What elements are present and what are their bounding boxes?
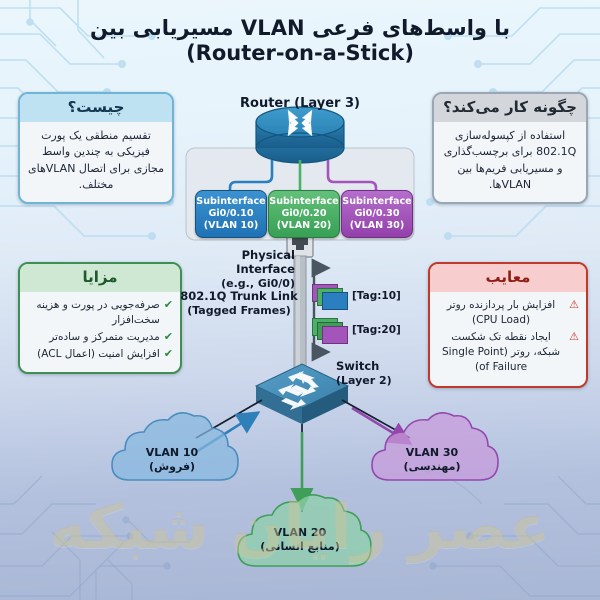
- list-item: ✔ مدیریت متمرکز و ساده‌تر: [27, 330, 173, 345]
- info-box-cons: معایب ⚠ افزایش بار پردازنده روتر (CPU Lo…: [428, 262, 588, 388]
- physical-interface-label: Physical Interface (e.g., Gi0/0): [185, 249, 295, 290]
- page-title: مسیریابی بین VLAN با واسط‌های فرعی (Rout…: [0, 16, 600, 66]
- trunk-link-title: 802.1Q Trunk Link: [180, 289, 298, 303]
- subinterface-vlan: (VLAN 10): [196, 220, 266, 232]
- subinterface-vlan: (VLAN 20): [269, 220, 339, 232]
- info-box-what-body: تقسیم منطقی یک پورت فیزیکی به چندین واسط…: [20, 122, 172, 202]
- subinterface-name: Gi0/0.10: [196, 208, 266, 220]
- switch-label: Switch (Layer 2): [336, 360, 426, 387]
- cons-list: ⚠ افزایش بار پردازنده روتر (CPU Load) ⚠ …: [430, 292, 586, 386]
- infographic-canvas: مسیریابی بین VLAN با واسط‌های فرعی (Rout…: [0, 0, 600, 600]
- switch-sub: (Layer 2): [336, 374, 426, 387]
- cloud-dept: (فروش): [112, 460, 232, 474]
- pros-list: ✔ صرفه‌جویی در پورت و هزینه سخت‌افزار ✔ …: [20, 292, 180, 373]
- router-label: Router (Layer 3): [0, 96, 600, 112]
- title-line-1: مسیریابی بین VLAN با واسط‌های فرعی: [0, 16, 600, 41]
- cloud-label-vlan-10: VLAN 10 (فروش): [112, 418, 232, 496]
- check-icon: ✔: [164, 298, 173, 313]
- info-box-how-body: استفاده از کپسوله‌سازی 802.1Q برای برچسب…: [434, 122, 586, 202]
- physical-interface-sub: (e.g., Gi0/0): [185, 277, 295, 290]
- info-box-pros: مزایا ✔ صرفه‌جویی در پورت و هزینه سخت‌اف…: [18, 262, 182, 374]
- check-icon: ✔: [164, 347, 173, 362]
- frame-stack-icon: [312, 284, 348, 308]
- subinterface-vlan: (VLAN 30): [342, 220, 412, 232]
- subinterface-title: Subinterface: [269, 196, 339, 208]
- cloud-label-vlan-30: VLAN 30 (مهندسی): [372, 418, 492, 496]
- list-item: ✔ افزایش امنیت (اعمال ACL): [27, 347, 173, 362]
- switch-title: Switch: [336, 359, 379, 373]
- list-item-label: ایجاد نقطه تک شکست شبکه، روتر (Single Po…: [437, 330, 565, 376]
- trunk-link-label: 802.1Q Trunk Link (Tagged Frames): [180, 290, 298, 317]
- list-item: ⚠ ایجاد نقطه تک شکست شبکه، روتر (Single …: [437, 330, 579, 376]
- subinterface-name: Gi0/0.20: [269, 208, 339, 220]
- warning-icon: ⚠: [569, 298, 579, 313]
- cloud-name: VLAN 30: [372, 446, 492, 460]
- list-item: ✔ صرفه‌جویی در پورت و هزینه سخت‌افزار: [27, 298, 173, 328]
- warning-icon: ⚠: [569, 330, 579, 345]
- tagged-frame-group-20: [Tag:20]: [312, 318, 401, 342]
- cloud-label-vlan-20: VLAN 20 (منابع انسانی): [236, 498, 364, 580]
- check-icon: ✔: [164, 330, 173, 345]
- subinterface-vlan-10[interactable]: Subinterface Gi0/0.10 (VLAN 10): [195, 190, 267, 238]
- subinterface-vlan-30[interactable]: Subinterface Gi0/0.30 (VLAN 30): [341, 190, 413, 238]
- trunk-link-sub: (Tagged Frames): [180, 304, 298, 317]
- tag-label-20: [Tag:20]: [352, 324, 401, 336]
- list-item-label: مدیریت متمرکز و ساده‌تر: [27, 330, 160, 345]
- subinterface-vlan-20[interactable]: Subinterface Gi0/0.20 (VLAN 20): [268, 190, 340, 238]
- subinterface-title: Subinterface: [196, 196, 266, 208]
- title-line-2: (Router-on-a-Stick): [0, 41, 600, 66]
- tagged-frame-group-10: [Tag:10]: [312, 284, 401, 308]
- list-item: ⚠ افزایش بار پردازنده روتر (CPU Load): [437, 298, 579, 328]
- cloud-dept: (منابع انسانی): [236, 540, 364, 554]
- list-item-label: صرفه‌جویی در پورت و هزینه سخت‌افزار: [27, 298, 160, 328]
- subinterface-name: Gi0/0.30: [342, 208, 412, 220]
- tag-label-10: [Tag:10]: [352, 290, 401, 302]
- cloud-name: VLAN 10: [112, 446, 232, 460]
- list-item-label: افزایش بار پردازنده روتر (CPU Load): [437, 298, 565, 328]
- frame-stack-icon: [312, 318, 348, 342]
- switch-icon: [256, 364, 348, 424]
- cloud-name: VLAN 20: [236, 526, 364, 540]
- cloud-dept: (مهندسی): [372, 460, 492, 474]
- physical-interface-title: Physical Interface: [236, 248, 295, 276]
- info-box-cons-header: معایب: [430, 264, 586, 292]
- list-item-label: افزایش امنیت (اعمال ACL): [27, 347, 160, 362]
- router-icon: [256, 107, 344, 163]
- info-box-pros-header: مزایا: [20, 264, 180, 292]
- subinterface-title: Subinterface: [342, 196, 412, 208]
